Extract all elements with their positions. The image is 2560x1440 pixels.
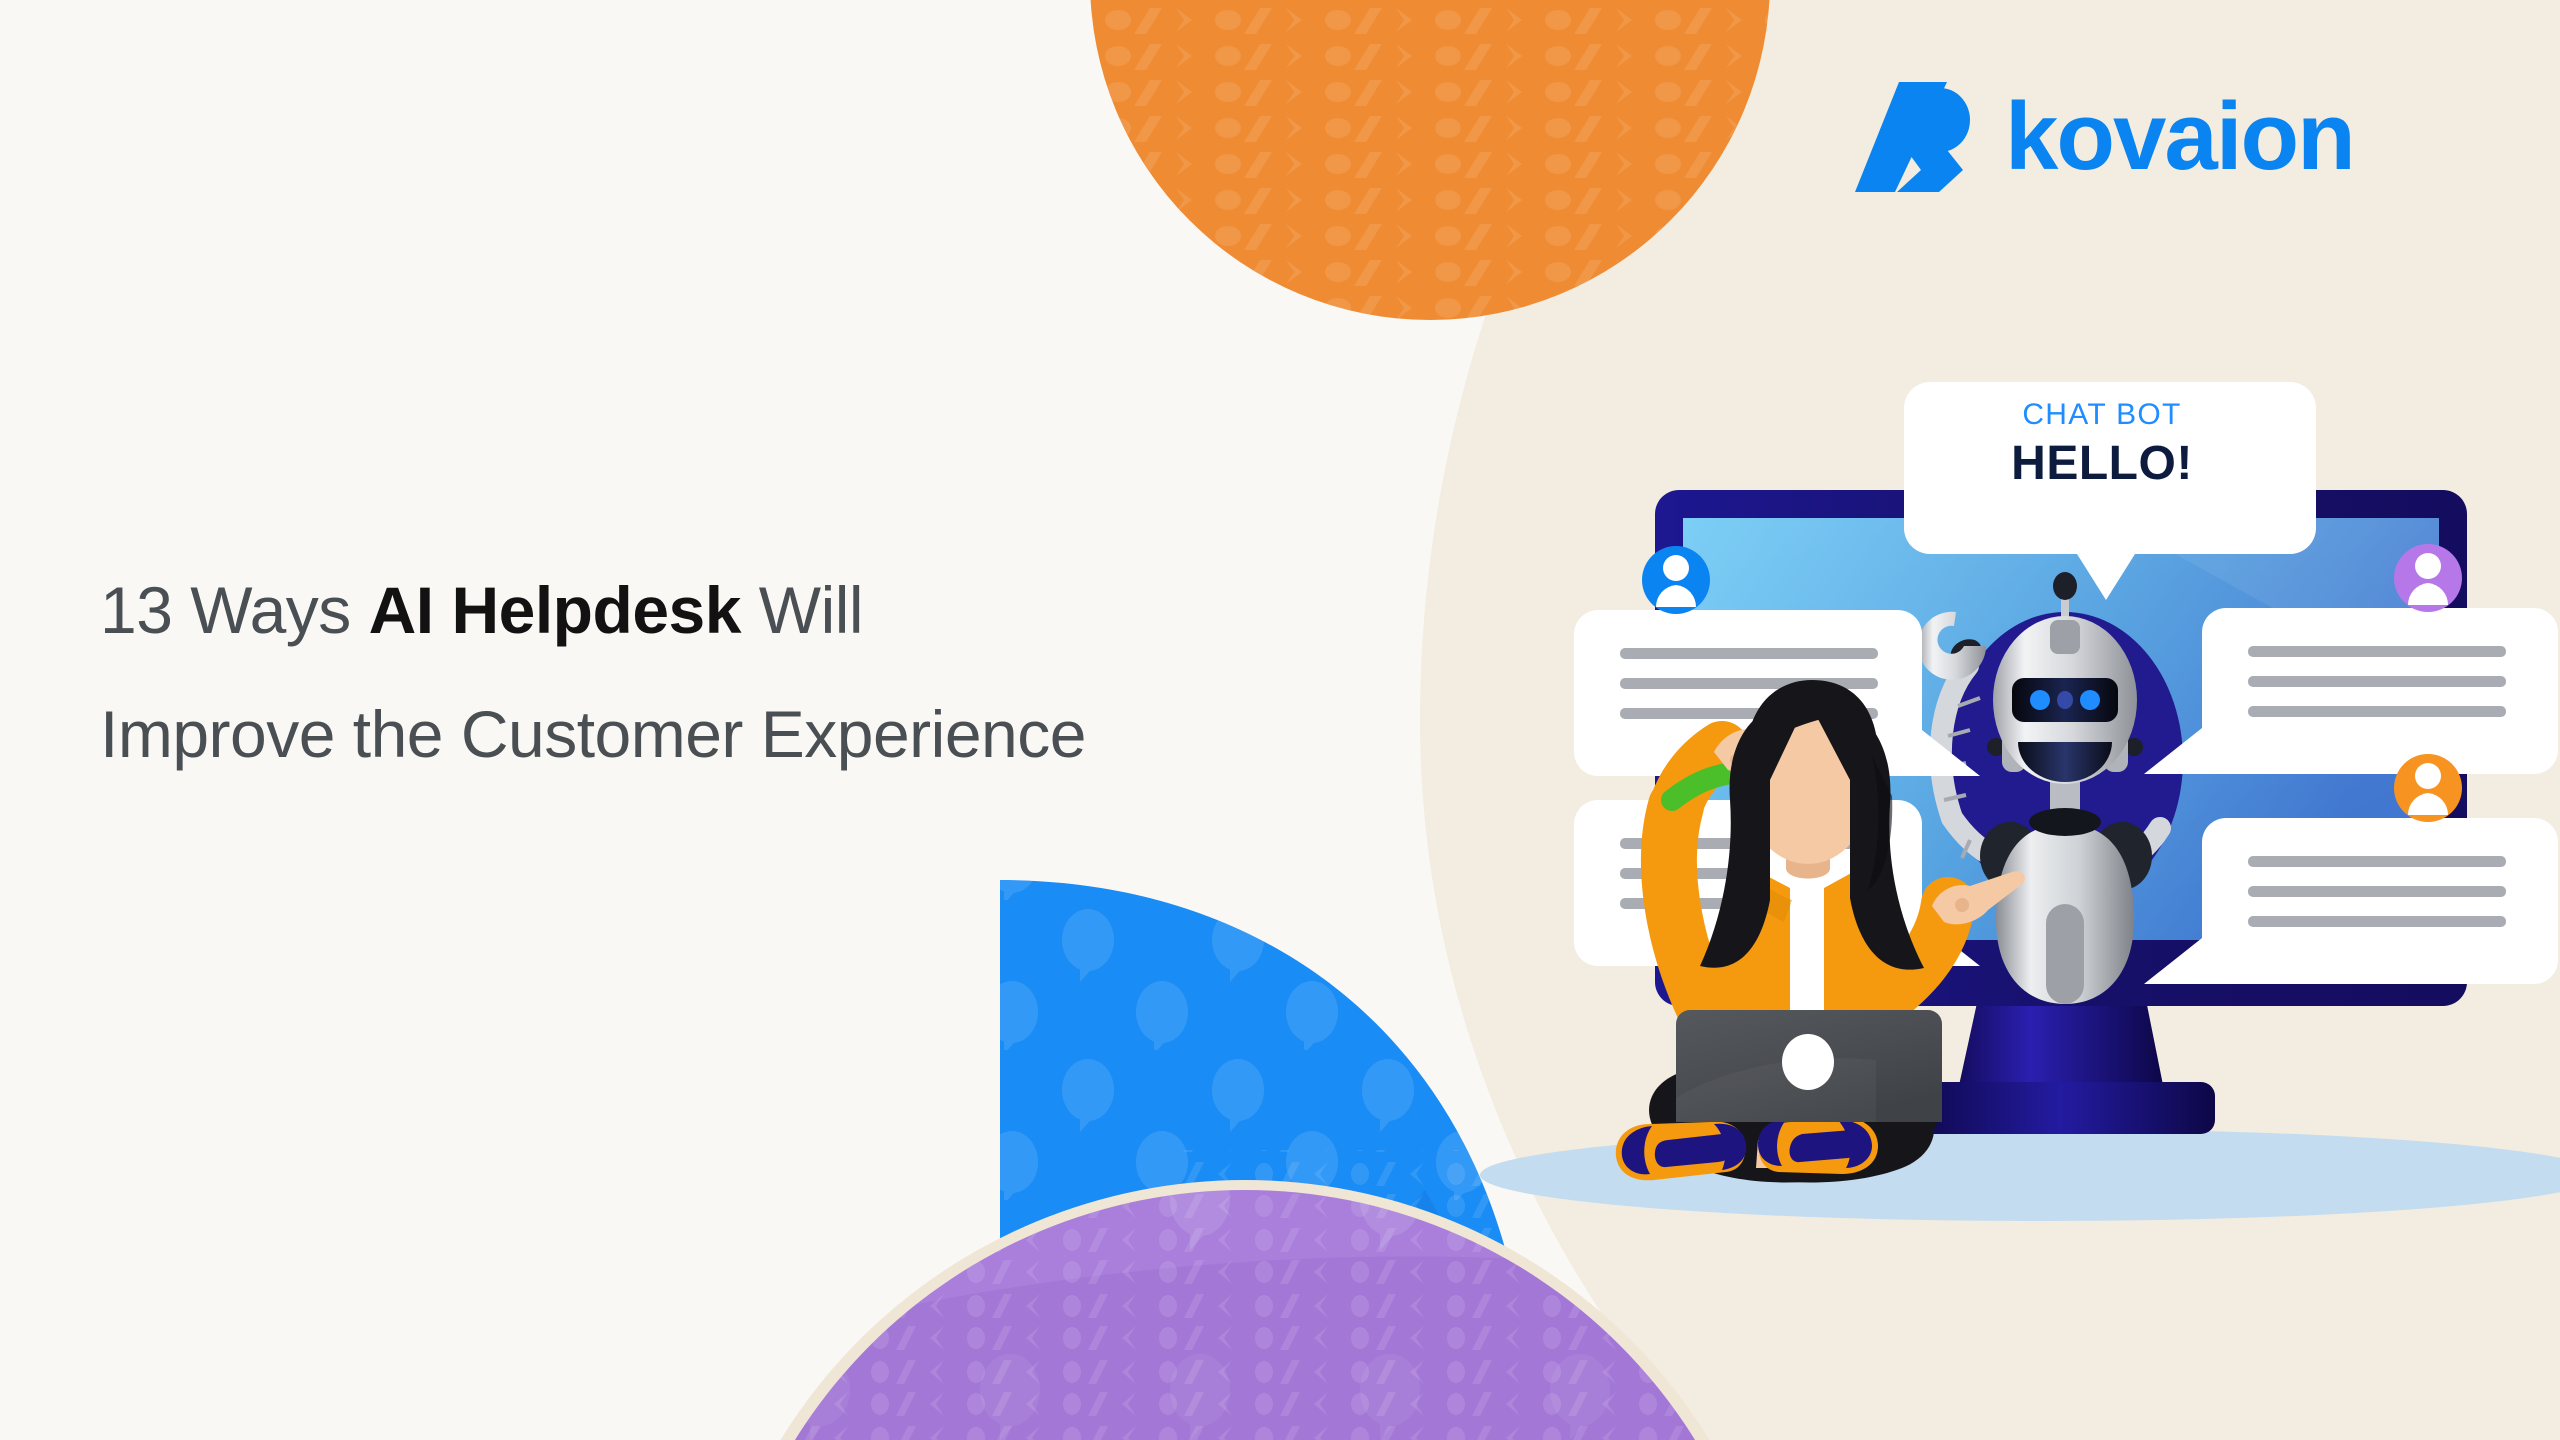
robot-eye-right — [2080, 690, 2100, 710]
user-avatar-purple — [2394, 544, 2462, 612]
user-avatar-blue — [1642, 546, 1710, 614]
robot-eye-left — [2030, 690, 2050, 710]
robot-torso-panel — [2046, 904, 2084, 1004]
message-line — [1620, 648, 1878, 659]
message-line — [2248, 646, 2506, 657]
robot-antenna-tip — [2053, 572, 2077, 600]
user-avatar-orange — [2394, 754, 2462, 822]
message-line — [2248, 856, 2506, 867]
robot-neck-collar — [2029, 808, 2101, 836]
woman-shoe-right — [1758, 1118, 1878, 1174]
message-line — [2248, 676, 2506, 687]
message-line — [2248, 706, 2506, 717]
robot-eye-center-glow — [2057, 691, 2073, 709]
message-line — [2248, 886, 2506, 897]
woman-shoe-left — [1616, 1122, 1746, 1181]
robot-head-crest — [2050, 620, 2080, 654]
chatbot-illustration — [0, 0, 2560, 1440]
poster-canvas: 13 Ways AI Helpdesk Will Improve the Cus… — [0, 0, 2560, 1440]
message-line — [2248, 916, 2506, 927]
monitor-stand-base — [1905, 1082, 2215, 1134]
